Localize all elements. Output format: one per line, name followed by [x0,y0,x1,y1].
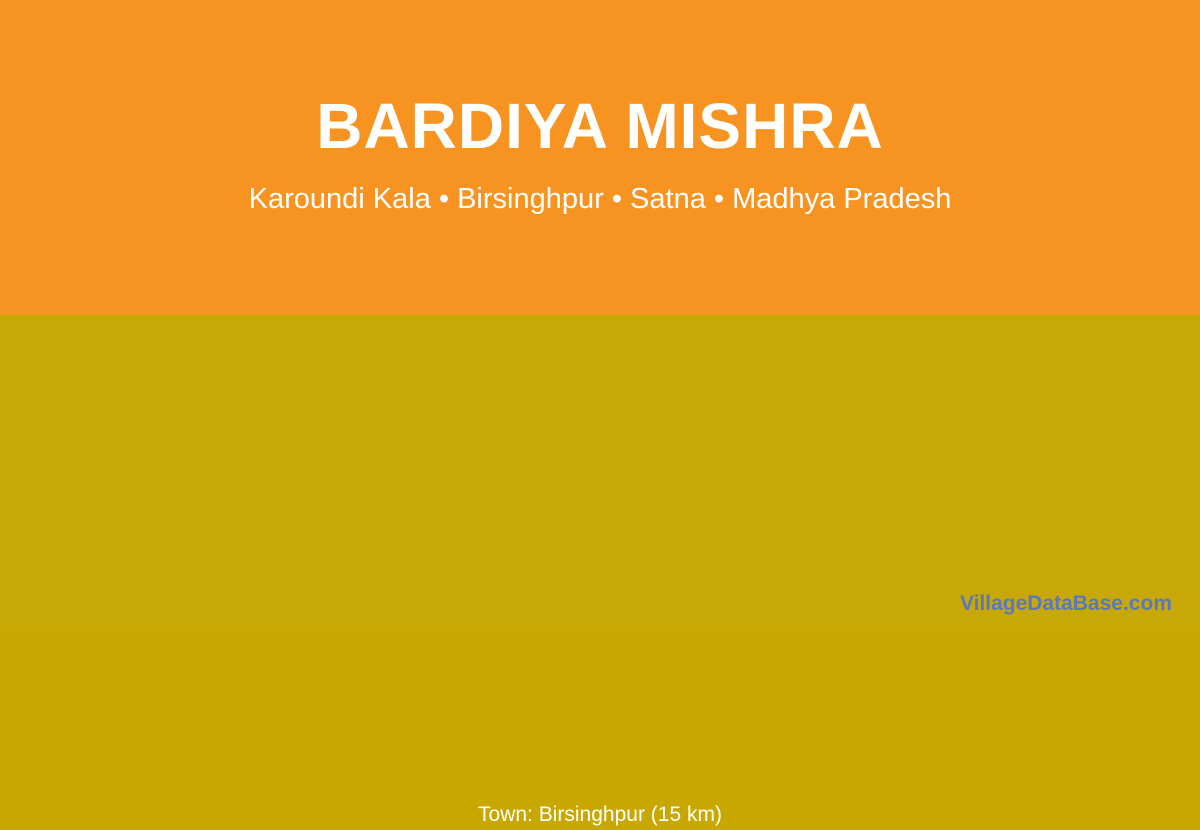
page-title: BARDIYA MISHRA [0,88,1200,164]
location-breadcrumb: Karoundi Kala • Birsinghpur • Satna • Ma… [0,180,1200,218]
site-brand-label: VillageDataBase.com [960,592,1172,616]
village-info-card: BARDIYA MISHRA Karoundi Kala • Birsinghp… [0,0,1200,630]
details-band: Town: Birsinghpur (15 km) [0,315,1200,630]
header-band: BARDIYA MISHRA Karoundi Kala • Birsinghp… [0,0,1200,315]
nearest-town-info: Town: Birsinghpur (15 km) [0,800,1200,830]
